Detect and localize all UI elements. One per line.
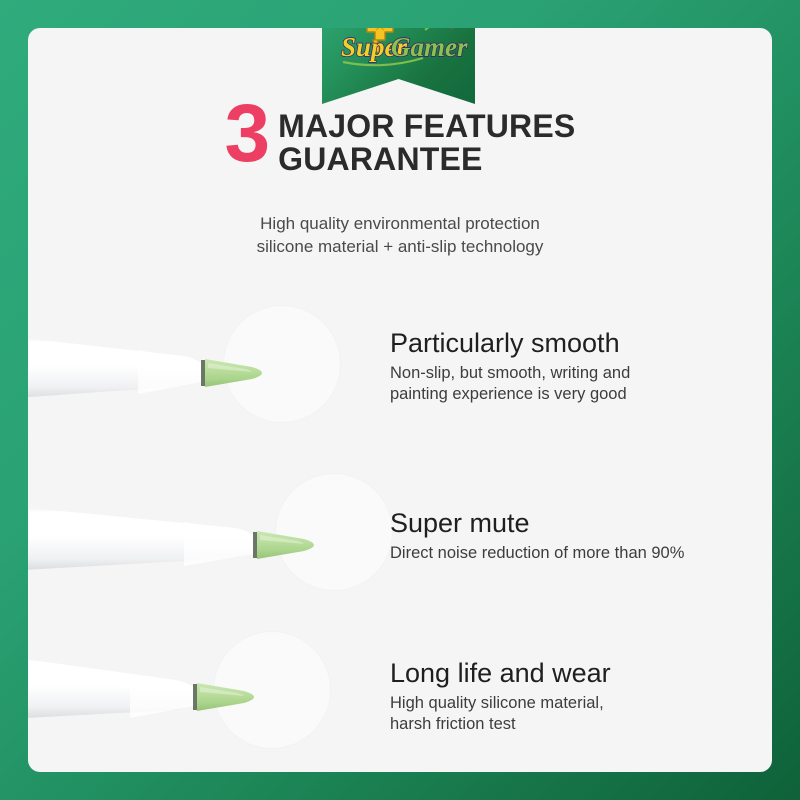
brand-logo: Super Gamer	[322, 28, 475, 70]
feature-text-3: Long life and wear High quality silicone…	[390, 658, 611, 736]
feature-desc-2-line-1: Direct noise reduction of more than 90%	[390, 543, 684, 564]
feature-desc-1-line-1: Non-slip, but smooth, writing and	[390, 363, 630, 384]
feature-desc-3-line-1: High quality silicone material,	[390, 693, 611, 714]
supergamer-logo-icon: Super Gamer	[329, 28, 469, 68]
stylus-pen-illustration-3	[28, 638, 308, 750]
feature-text-2: Super mute Direct noise reduction of mor…	[390, 508, 684, 564]
feature-desc-3: High quality silicone material, harsh fr…	[390, 693, 611, 736]
brand-banner: Super Gamer	[322, 28, 475, 104]
feature-text-1: Particularly smooth Non-slip, but smooth…	[390, 328, 630, 406]
feature-title-1: Particularly smooth	[390, 328, 630, 359]
feature-row-3: Long life and wear High quality silicone…	[28, 622, 772, 772]
subtitle-line-1: High quality environmental protection	[28, 213, 772, 236]
content-panel: Super Gamer 3 MAJOR FEATURES GUARANTEE H…	[28, 28, 772, 772]
headline-line-2: GUARANTEE	[278, 143, 575, 176]
feature-row-2: Super mute Direct noise reduction of mor…	[28, 452, 772, 622]
feature-desc-1: Non-slip, but smooth, writing and painti…	[390, 363, 630, 406]
page-frame: Super Gamer 3 MAJOR FEATURES GUARANTEE H…	[0, 0, 800, 800]
headline: 3 MAJOR FEATURES GUARANTEE	[28, 98, 772, 175]
subtitle: High quality environmental protection si…	[28, 213, 772, 259]
feature-count-number: 3	[225, 98, 269, 169]
feature-desc-2: Direct noise reduction of more than 90%	[390, 543, 684, 564]
feature-row-1: Particularly smooth Non-slip, but smooth…	[28, 282, 772, 452]
feature-desc-1-line-2: painting experience is very good	[390, 384, 630, 405]
stylus-pen-illustration-2	[28, 480, 368, 592]
logo-word-gamer: Gamer	[391, 32, 468, 62]
headline-line-1: MAJOR FEATURES	[278, 110, 575, 143]
subtitle-line-2: silicone material + anti-slip technology	[28, 236, 772, 259]
power-plug-icon	[425, 28, 465, 30]
feature-title-2: Super mute	[390, 508, 684, 539]
stylus-pen-illustration-1	[28, 312, 318, 422]
feature-title-3: Long life and wear	[390, 658, 611, 689]
feature-desc-3-line-2: harsh friction test	[390, 714, 611, 735]
